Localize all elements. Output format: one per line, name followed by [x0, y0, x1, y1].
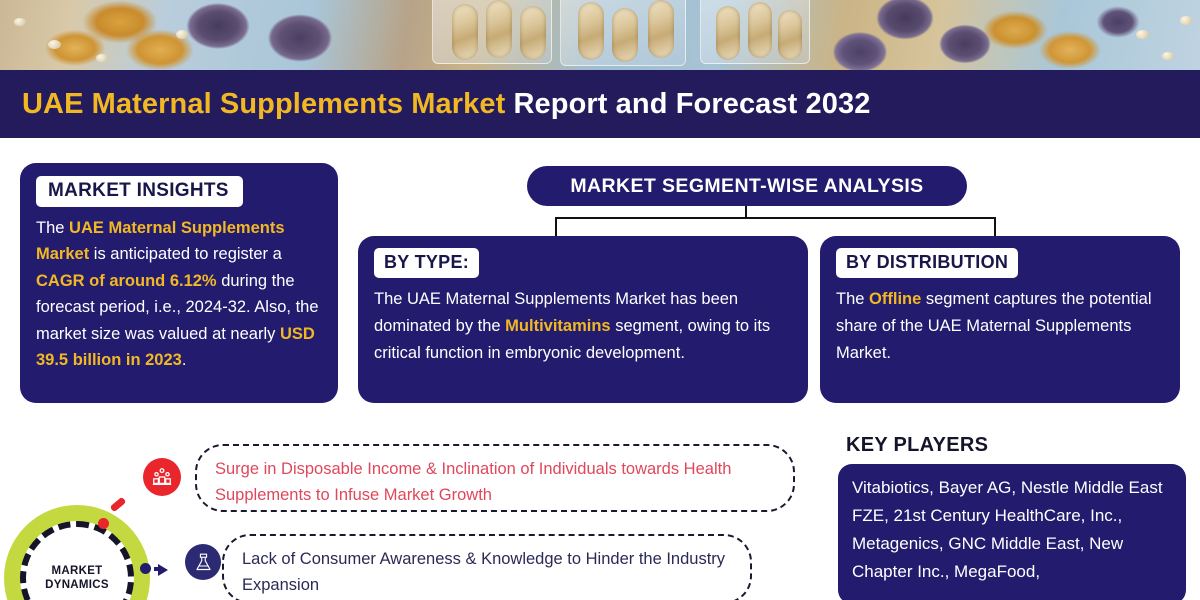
connector-right: [994, 217, 996, 237]
seed: [1136, 30, 1149, 39]
capsule: [578, 2, 604, 60]
segment-analysis-header: MARKET SEGMENT-WISE ANALYSIS: [527, 166, 967, 206]
seed: [96, 54, 108, 62]
restraint-node-dot: [140, 563, 151, 574]
dynamics-label-line1: MARKET: [52, 564, 103, 578]
by-type-text: The UAE Maternal Supplements Market has …: [374, 286, 792, 368]
infographic-page: UAE Maternal Supplements Market Report a…: [0, 0, 1200, 600]
seed: [176, 30, 188, 39]
restraint-arrow-head: [158, 564, 168, 576]
capsule: [520, 6, 546, 60]
by-distribution-card: BY DISTRIBUTION The Offline segment capt…: [820, 236, 1180, 403]
seed: [1180, 16, 1192, 25]
dynamics-label-line2: DYNAMICS: [45, 578, 109, 592]
market-dynamics-wheel: MARKET DYNAMICS: [0, 495, 172, 600]
page-title: UAE Maternal Supplements Market Report a…: [22, 88, 870, 121]
by-type-card: BY TYPE: The UAE Maternal Supplements Ma…: [358, 236, 808, 403]
capsule: [486, 0, 512, 58]
market-insights-card: MARKET INSIGHTS The UAE Maternal Supplem…: [20, 163, 338, 403]
capsule: [716, 6, 740, 60]
dynamics-label: MARKET DYNAMICS: [20, 521, 134, 600]
title-bar: UAE Maternal Supplements Market Report a…: [0, 70, 1200, 138]
capsule: [452, 4, 478, 60]
capsule: [778, 10, 802, 60]
connector-bar: [555, 217, 996, 219]
market-restraint-box: Lack of Consumer Awareness & Knowledge t…: [222, 534, 752, 600]
key-players-card: Vitabiotics, Bayer AG, Nestle Middle Eas…: [838, 464, 1186, 600]
driver-node-dot: [98, 518, 109, 529]
capsule: [748, 2, 772, 58]
supplements-photo-banner: [0, 0, 1200, 70]
driver-connector-dash: [110, 497, 127, 513]
page-title-highlight: UAE Maternal Supplements Market: [22, 88, 505, 120]
capsule: [648, 0, 674, 58]
key-players-text: Vitabiotics, Bayer AG, Nestle Middle Eas…: [852, 474, 1172, 586]
market-insights-label: MARKET INSIGHTS: [36, 176, 243, 207]
page-title-rest: Report and Forecast 2032: [505, 88, 870, 120]
seed: [1162, 52, 1174, 60]
market-insights-text: The UAE Maternal Supplements Market is a…: [36, 215, 322, 373]
people-group-icon: [143, 458, 181, 496]
by-type-label: BY TYPE:: [374, 248, 479, 278]
key-players-title: KEY PLAYERS: [846, 434, 988, 457]
segment-analysis-header-label: MARKET SEGMENT-WISE ANALYSIS: [570, 175, 923, 198]
market-restraint-text: Lack of Consumer Awareness & Knowledge t…: [242, 550, 725, 594]
by-distribution-text: The Offline segment captures the potenti…: [836, 286, 1164, 368]
connector-left: [555, 217, 557, 237]
by-distribution-label: BY DISTRIBUTION: [836, 248, 1018, 278]
seed: [48, 40, 61, 49]
capsule: [612, 8, 638, 62]
market-driver-box: Surge in Disposable Income & Inclination…: [195, 444, 795, 512]
flask-icon: [185, 544, 221, 580]
seed: [14, 18, 26, 26]
market-driver-text: Surge in Disposable Income & Inclination…: [215, 460, 731, 504]
